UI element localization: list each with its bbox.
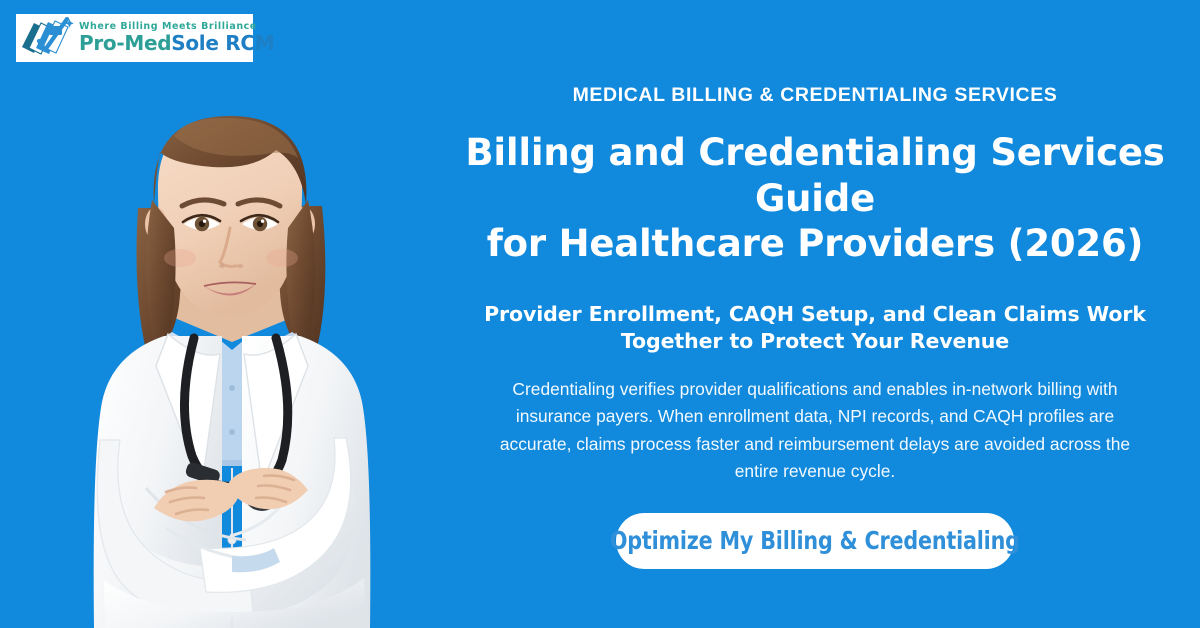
body-paragraph: Credentialing verifies provider qualific… [499,376,1131,486]
hero-content: MEDICAL BILLING & CREDENTIALING SERVICES… [430,0,1200,628]
optimize-billing-cta-button[interactable]: Optimize My Billing & Credentialing [616,513,1014,569]
headline-line-1: Billing and Credentialing Services Guide [465,131,1164,220]
subheadline: Provider Enrollment, CAQH Setup, and Cle… [454,301,1176,356]
logo-name-part-1: Pro-Med [79,31,171,55]
logo-wordmark: Where Billing Meets Brilliance Pro-MedSo… [79,22,274,54]
headline-line-2: for Healthcare Providers (2026) [487,222,1143,265]
logo-name-part-2: Sole RCM [171,31,274,55]
doctor-portrait [46,88,416,628]
logo-name: Pro-MedSole RCM [79,33,274,54]
eyebrow-text: MEDICAL BILLING & CREDENTIALING SERVICES [573,84,1058,107]
hero-banner: Where Billing Meets Brilliance Pro-MedSo… [0,0,1200,628]
stacked-documents-check-icon [20,17,76,59]
brand-logo[interactable]: Where Billing Meets Brilliance Pro-MedSo… [16,14,253,62]
cta-button-label: Optimize My Billing & Credentialing [610,526,1020,555]
page-title: Billing and Credentialing Services Guide… [435,130,1195,267]
